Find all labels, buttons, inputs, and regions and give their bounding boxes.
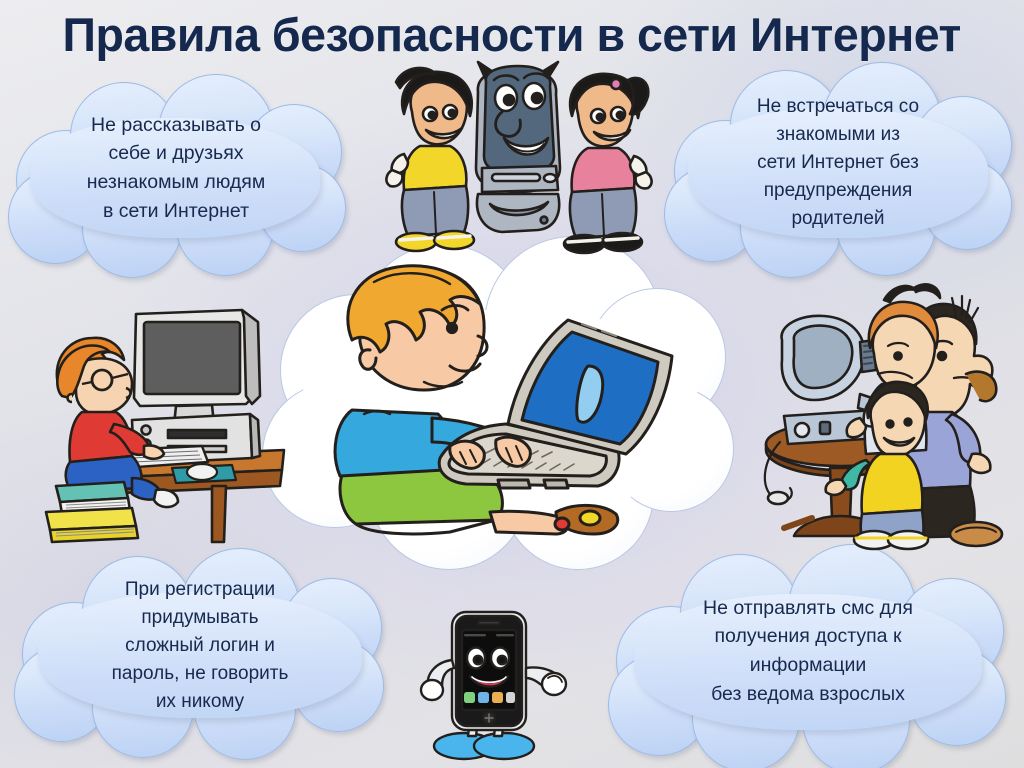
cloud-no-meeting-strangers-text: Не встречаться со знакомыми из сети Инте…	[664, 62, 1012, 264]
cloud-line: себе и друзьях	[108, 139, 243, 168]
page-title: Правила безопасности в сети Интернет	[0, 0, 1024, 68]
page-title-text: Правила безопасности в сети Интернет	[63, 11, 961, 58]
smiling-smartphone-illustration	[408, 604, 574, 764]
cloud-line: сложный логин и	[125, 632, 275, 660]
cloud-line: придумывать	[141, 604, 258, 632]
family-at-computer-illustration	[756, 282, 1020, 550]
cloud-line: информации	[750, 651, 867, 680]
boy-with-laptop-illustration	[300, 262, 700, 562]
cloud-no-sms-text: Не отправлять смс для получения доступа …	[608, 544, 1008, 758]
cloud-strong-password: При регистрации придумывать сложный логи…	[14, 548, 386, 744]
cloud-no-meeting-strangers: Не встречаться со знакомыми из сети Инте…	[664, 62, 1012, 264]
cloud-line: При регистрации	[125, 576, 275, 604]
poster-canvas: Правила безопасности в сети Интернет	[0, 0, 1024, 768]
cloud-line: предупреждения	[764, 177, 913, 205]
cloud-line: знакомыми из	[776, 121, 900, 149]
cloud-line: в сети Интернет	[103, 197, 249, 226]
cloud-line: родителей	[791, 205, 884, 233]
cloud-line: сети Интернет без	[757, 149, 919, 177]
kids-with-smiling-computer-illustration	[382, 72, 650, 256]
cloud-strong-password-text: При регистрации придумывать сложный логи…	[14, 548, 386, 744]
cloud-line: их никому	[156, 688, 244, 716]
cloud-no-personal-info-text: Не рассказывать о себе и друзьях незнако…	[8, 74, 344, 262]
cloud-line: Не рассказывать о	[91, 111, 261, 140]
boy-at-desktop-computer-illustration	[36, 300, 308, 550]
cloud-line: получения доступа к	[715, 622, 902, 651]
cloud-no-sms: Не отправлять смс для получения доступа …	[608, 544, 1008, 758]
cloud-line: без ведома взрослых	[711, 680, 905, 709]
cloud-line: Не отправлять смс для	[703, 594, 913, 623]
cloud-line: незнакомым людям	[87, 168, 266, 197]
cloud-line: Не встречаться со	[757, 93, 919, 121]
cloud-line: пароль, не говорить	[112, 660, 289, 688]
cloud-no-personal-info: Не рассказывать о себе и друзьях незнако…	[8, 74, 344, 262]
